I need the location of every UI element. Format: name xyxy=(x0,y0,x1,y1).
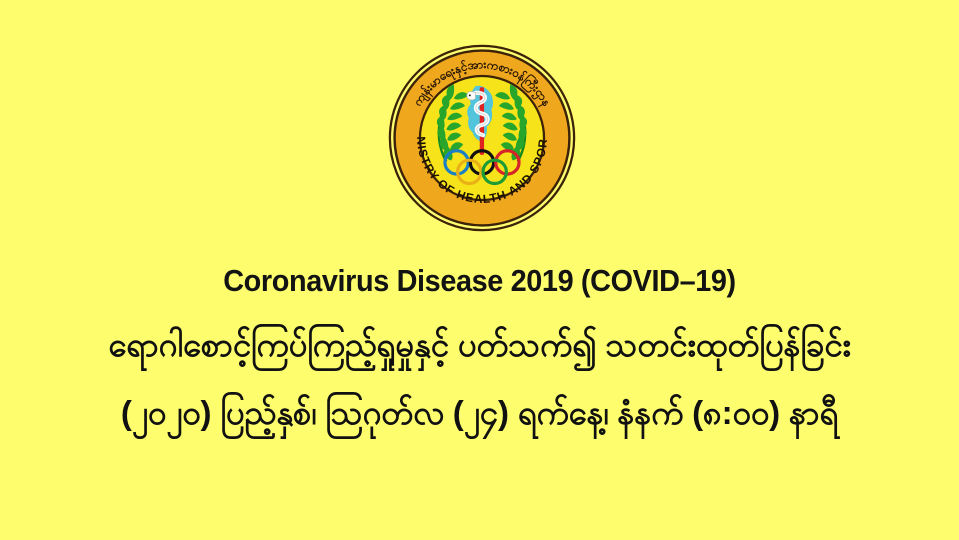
announcement-slide: ကျန်းမာရေးနှင့်အားကစားဝန်ကြီးဌာန MINISTR… xyxy=(0,0,959,540)
announcement-text-block: Coronavirus Disease 2019 (COVID–19) ရောဂ… xyxy=(0,262,959,436)
ministry-seal-logo: ကျန်းမာရေးနှင့်အားကစားဝန်ကြီးဌာန MINISTR… xyxy=(388,44,576,232)
page-title-english: Coronavirus Disease 2019 (COVID–19) xyxy=(34,262,926,300)
ministry-seal-graphic: ကျန်းမာရေးနှင့်အားကစားဝန်ကြီးဌာန MINISTR… xyxy=(388,44,576,232)
subtitle-burmese-surveillance: ရောဂါစောင့်ကြပ်ကြည့်ရှုမှုနှင့် ပတ်သက်၍ … xyxy=(0,322,959,368)
subtitle-burmese-datetime: (၂၀၂၀) ပြည့်နှစ်၊ သြဂုတ်လ (၂၄) ရက်နေ့၊ န… xyxy=(0,390,959,436)
